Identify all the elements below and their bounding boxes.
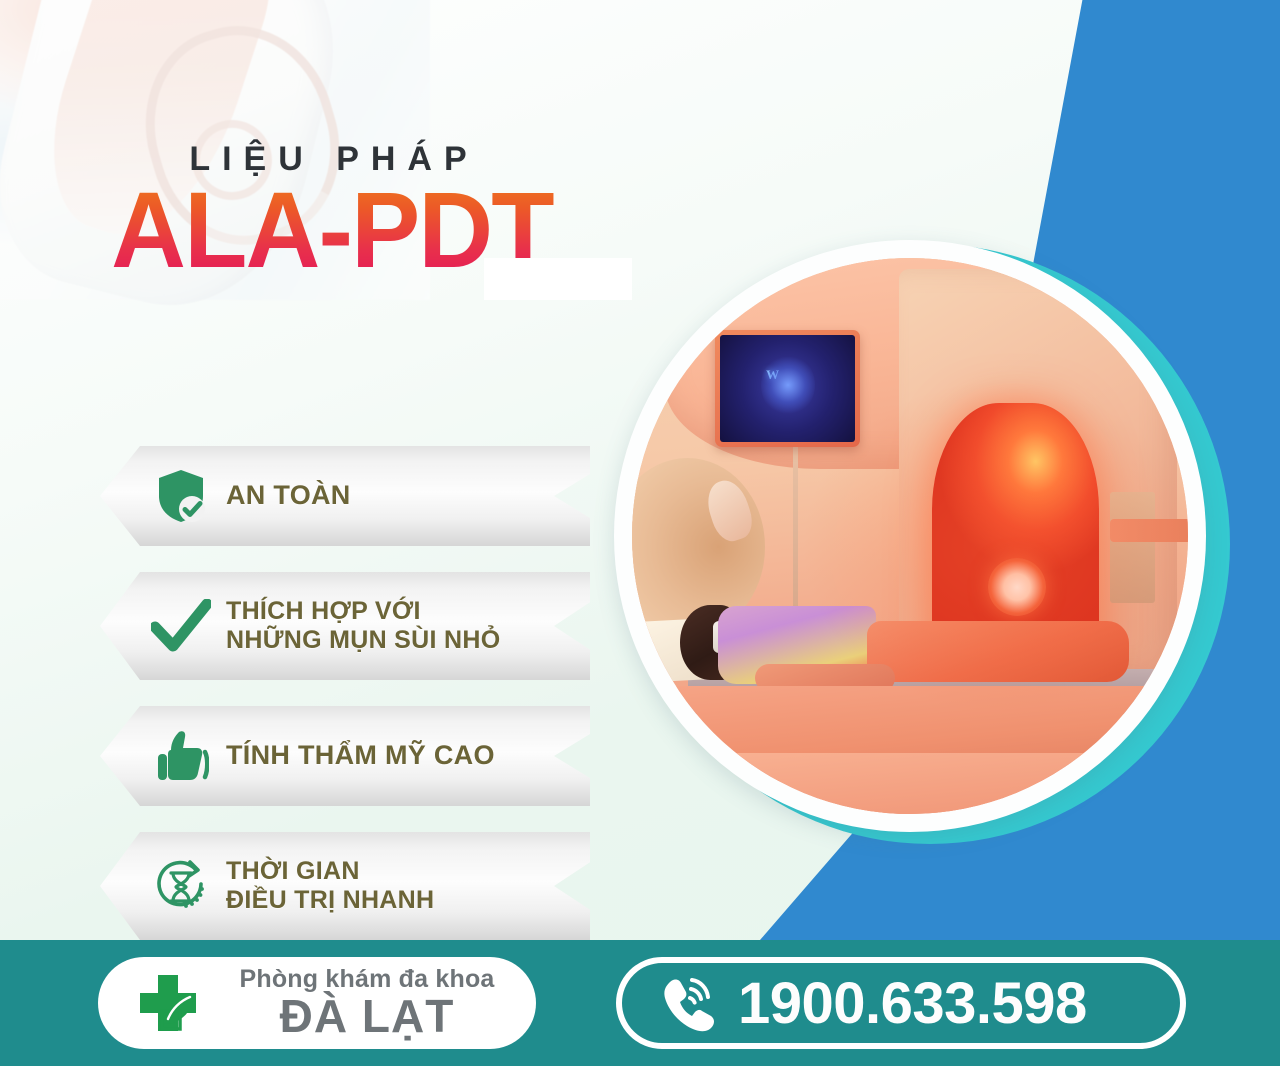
- pdt-treatment-photo: W: [632, 258, 1188, 814]
- feature-badge-label: AN TOÀN: [226, 480, 351, 512]
- photo-patient-legs: [867, 621, 1129, 682]
- hourglass-clock-icon: [142, 857, 220, 915]
- photo-monitor: W: [715, 330, 860, 447]
- check-mark-icon: [142, 599, 220, 653]
- medical-cross-leaf-icon: [124, 967, 212, 1039]
- infographic-canvas: W LIỆU PHÁP ALA-PDT: [0, 0, 1280, 1066]
- feature-badge-label: THÍCH HỢP VỚI NHỮNG MỤN SÙI NHỎ: [226, 597, 500, 656]
- phone-cta-pill[interactable]: 1900.633.598: [616, 957, 1186, 1049]
- clinic-name-line2: ĐÀ LẠT: [216, 992, 518, 1040]
- feature-badge-label: TÍNH THẨM MỸ CAO: [226, 740, 495, 772]
- feature-badge-line2: ĐIỀU TRỊ NHANH: [226, 886, 434, 916]
- feature-badge-line1: THÍCH HỢP VỚI: [226, 597, 500, 627]
- shield-check-icon: [142, 468, 220, 524]
- feature-badge-an-toan[interactable]: AN TOÀN: [100, 446, 590, 546]
- feature-badge-thich-hop[interactable]: THÍCH HỢP VỚI NHỮNG MỤN SÙI NHỎ: [100, 572, 590, 680]
- feature-badge-line1: THỜI GIAN: [226, 857, 434, 887]
- phone-number: 1900.633.598: [738, 970, 1087, 1037]
- photo-side-panel: [1110, 492, 1154, 603]
- phone-call-icon: [650, 972, 724, 1034]
- white-mask-box: [484, 258, 632, 300]
- feature-badge-label: THỜI GIAN ĐIỀU TRỊ NHANH: [226, 857, 434, 916]
- monitor-logo-glyph: W: [766, 367, 779, 383]
- photo-monitor-pole: [793, 441, 798, 608]
- thumbs-up-icon: [142, 728, 220, 784]
- feature-badge-line2: NHỮNG MỤN SÙI NHỎ: [226, 626, 500, 656]
- clinic-name-block: Phòng khám đa khoa ĐÀ LẠT: [216, 966, 536, 1040]
- photo-monitor-screen: W: [720, 335, 855, 442]
- photo-circle-frame: W: [614, 240, 1206, 832]
- photo-side-arm: [1110, 519, 1188, 541]
- feature-badge-tham-my[interactable]: TÍNH THẨM MỸ CAO: [100, 706, 590, 806]
- photo-bed-base: [632, 753, 1188, 814]
- clinic-logo-pill[interactable]: Phòng khám đa khoa ĐÀ LẠT: [98, 957, 536, 1049]
- footer-bar: Phòng khám đa khoa ĐÀ LẠT 1900.633.598: [0, 940, 1280, 1066]
- photo-patient: [671, 608, 1138, 686]
- feature-badge-list: AN TOÀN THÍCH HỢP VỚI NHỮNG MỤN SÙI NHỎ: [100, 446, 590, 966]
- feature-badge-thoi-gian[interactable]: THỜI GIAN ĐIỀU TRỊ NHANH: [100, 832, 590, 940]
